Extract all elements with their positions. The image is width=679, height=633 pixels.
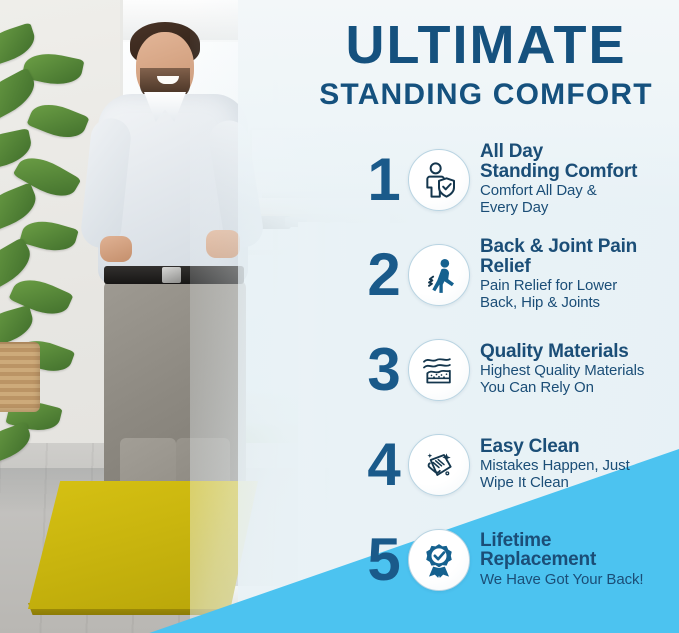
- feature-item: 4 Easy Clean Mistakes Happen, Just Wip: [360, 417, 679, 512]
- foam-layers-icon: [419, 350, 459, 390]
- feature-subtitle-line-1: Pain Relief for Lower: [480, 277, 617, 294]
- feature-subtitle: Mistakes Happen, Just Wipe It Clean: [480, 458, 679, 492]
- feature-text: Easy Clean Mistakes Happen, Just Wipe It…: [480, 437, 679, 492]
- feature-subtitle-line-2: Wipe It Clean: [480, 474, 569, 491]
- feature-subtitle-line-1: Comfort All Day &: [480, 182, 597, 199]
- desk-leg: [298, 222, 325, 590]
- left-hand: [100, 236, 132, 262]
- feature-subtitle-line-1: Highest Quality Materials: [480, 362, 644, 379]
- plant-basket: [0, 342, 40, 412]
- feature-subtitle: Highest Quality Materials You Can Rely O…: [480, 363, 679, 397]
- feature-number: 2: [360, 245, 408, 305]
- feature-text: Back & Joint Pain Relief Pain Relief for…: [480, 237, 679, 312]
- hand-wipe-sparkle-icon: [419, 445, 459, 485]
- right-hand: [206, 230, 240, 258]
- feature-item: 1 All Day Standing Comfort Comfort All D…: [360, 132, 679, 227]
- anti-fatigue-mat: [28, 481, 258, 609]
- feature-title-line-2: Replacement: [480, 549, 596, 570]
- feature-number: 1: [360, 150, 408, 210]
- feature-icon-badge: [408, 434, 470, 496]
- person-back-pain-icon: [419, 255, 459, 295]
- feature-icon-badge: [408, 529, 470, 591]
- feature-icon-badge: [408, 339, 470, 401]
- feature-number: 4: [360, 435, 408, 495]
- feature-subtitle: We Have Got Your Back!: [480, 572, 679, 589]
- headline-line-1: ULTIMATE: [300, 18, 672, 72]
- desk-leg-back: [330, 222, 346, 590]
- feature-icon-badge: [408, 244, 470, 306]
- feature-item: 5 Lifetime Replacement We Have Got Your …: [360, 512, 679, 607]
- feature-item: 2 Back & Joint Pain Relief Pain Relief f…: [360, 227, 679, 322]
- person-shield-check-icon: [419, 160, 459, 200]
- feature-title-line-2: Relief: [480, 256, 531, 277]
- feature-title: All Day Standing Comfort: [480, 142, 679, 181]
- headline-block: ULTIMATE STANDING COMFORT: [300, 18, 672, 110]
- feature-subtitle-line-2: Every Day: [480, 199, 548, 216]
- feature-subtitle-line-1: Mistakes Happen, Just: [480, 457, 630, 474]
- headline-line-2: STANDING COMFORT: [300, 80, 672, 110]
- feature-title: Lifetime Replacement: [480, 531, 679, 570]
- feature-title-line-1: All Day: [480, 141, 543, 162]
- feature-item: 3 Quality Materials: [360, 322, 679, 417]
- feature-text: Quality Materials Highest Quality Materi…: [480, 342, 679, 397]
- feature-number: 3: [360, 340, 408, 400]
- feature-subtitle-line-2: You Can Rely On: [480, 379, 594, 396]
- feature-subtitle-line-2: Back, Hip & Joints: [480, 294, 600, 311]
- award-ribbon-check-icon: [419, 540, 459, 580]
- feature-subtitle-line-1: We Have Got Your Back!: [480, 571, 643, 588]
- feature-title-line-1: Lifetime: [480, 530, 551, 551]
- feature-text: Lifetime Replacement We Have Got Your Ba…: [480, 531, 679, 589]
- feature-title-line-1: Quality Materials: [480, 341, 629, 362]
- feature-text: All Day Standing Comfort Comfort All Day…: [480, 142, 679, 217]
- feature-title: Back & Joint Pain Relief: [480, 237, 679, 276]
- product-infographic: ULTIMATE STANDING COMFORT 1 All Day Stan…: [0, 0, 679, 633]
- feature-number: 5: [360, 530, 408, 590]
- feature-icon-badge: [408, 149, 470, 211]
- feature-subtitle: Comfort All Day & Every Day: [480, 183, 679, 217]
- belt-buckle: [162, 267, 181, 283]
- feature-list: 1 All Day Standing Comfort Comfort All D…: [360, 132, 679, 607]
- feature-title: Quality Materials: [480, 342, 679, 362]
- feature-title: Easy Clean: [480, 437, 679, 457]
- feature-title-line-2: Standing Comfort: [480, 161, 637, 182]
- feature-title-line-1: Easy Clean: [480, 436, 579, 457]
- feature-subtitle: Pain Relief for Lower Back, Hip & Joints: [480, 278, 679, 312]
- feature-title-line-1: Back & Joint Pain: [480, 236, 637, 257]
